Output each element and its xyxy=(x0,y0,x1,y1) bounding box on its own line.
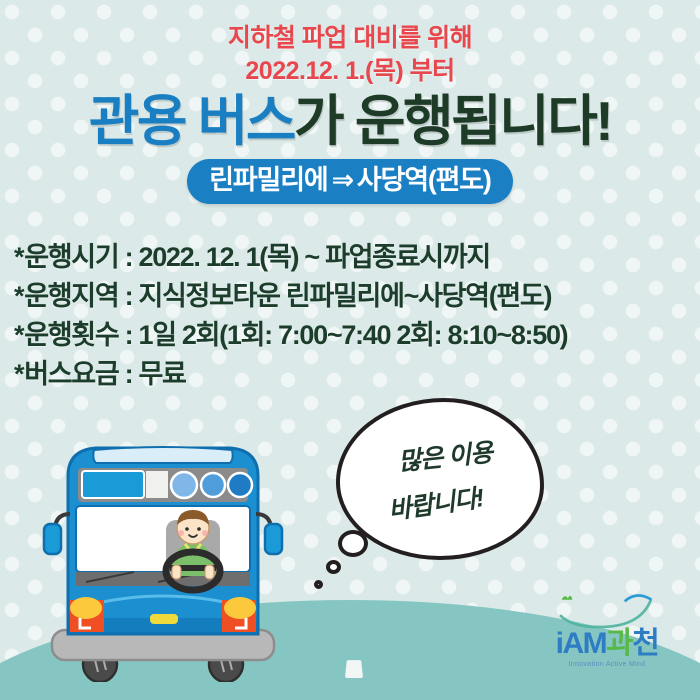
thought-bubble-tail-small xyxy=(314,580,323,589)
bus-icon xyxy=(38,432,288,682)
road-dash-marking xyxy=(345,660,363,678)
headline-block: 지하철 파업 대비를 위해 2022.12. 1.(목) 부터 관용 버스가 운… xyxy=(0,0,700,204)
detail-row: *버스요금 : 무료 xyxy=(14,355,686,394)
thought-bubble-text: 많은 이용 바랍니다! xyxy=(340,402,540,556)
arrow-right-icon: ⇒ xyxy=(327,165,356,195)
detail-row: *운행시기 : 2022. 12. 1(목) ~ 파업종료시까지 xyxy=(14,238,686,277)
thought-bubble-group: 많은 이용 바랍니다! xyxy=(336,398,544,560)
page-title-green-part: 가 운행됩니다! xyxy=(294,90,611,152)
logo-gwa: 과 xyxy=(606,627,632,660)
thought-bubble-tail-medium xyxy=(326,560,341,574)
poster-canvas: 지하철 파업 대비를 위해 2022.12. 1.(목) 부터 관용 버스가 운… xyxy=(0,0,700,700)
detail-row-text: 운행시기 : 2022. 12. 1(목) ~ 파업종료시까지 xyxy=(24,242,490,272)
route-badge: 린파밀리에⇒사당역(편도) xyxy=(187,159,512,204)
bullet-star-icon: * xyxy=(14,277,23,316)
thought-bubble-line-1: 많은 이용 xyxy=(396,433,493,479)
page-title-blue-part: 관용 버스 xyxy=(89,90,294,152)
headline-red-line-2: 2022.12. 1.(목) 부터 xyxy=(0,55,700,88)
detail-row: *운행횟수 : 1일 2회(1회: 7:00~7:40 2회: 8:10~8:5… xyxy=(14,316,686,355)
route-origin: 린파밀리에 xyxy=(209,165,327,195)
detail-row: *운행지역 : 지식정보타운 린파밀리에~사당역(편도) xyxy=(14,277,686,316)
thought-bubble-line-2: 바랍니다! xyxy=(386,478,485,527)
logo-swoosh-icon xyxy=(534,589,680,629)
logo-am: AM xyxy=(562,627,606,660)
details-list: *운행시기 : 2022. 12. 1(목) ~ 파업종료시까지 *운행지역 :… xyxy=(14,238,686,394)
detail-row-text: 운행횟수 : 1일 2회(1회: 7:00~7:40 2회: 8:10~8:50… xyxy=(24,320,567,350)
route-destination: 사당역(편도) xyxy=(357,165,491,195)
headline-red-line-1: 지하철 파업 대비를 위해 xyxy=(0,0,700,55)
logo-cheon: 천 xyxy=(632,627,658,660)
bus-illustration xyxy=(38,432,288,682)
bullet-star-icon: * xyxy=(14,316,23,355)
thought-bubble: 많은 이용 바랍니다! xyxy=(336,398,544,560)
logo-wordmark: iAM과천 xyxy=(534,629,680,659)
bullet-star-icon: * xyxy=(14,355,23,394)
logo-subtitle: Innovation Active Mind xyxy=(534,661,680,668)
bullet-star-icon: * xyxy=(14,238,23,277)
detail-row-text: 버스요금 : 무료 xyxy=(24,359,185,389)
page-title: 관용 버스가 운행됩니다! xyxy=(0,93,700,149)
detail-row-text: 운행지역 : 지식정보타운 린파밀리에~사당역(편도) xyxy=(24,281,551,311)
city-logo: iAM과천 Innovation Active Mind xyxy=(534,589,680,668)
thought-bubble-tail-large xyxy=(338,530,368,557)
